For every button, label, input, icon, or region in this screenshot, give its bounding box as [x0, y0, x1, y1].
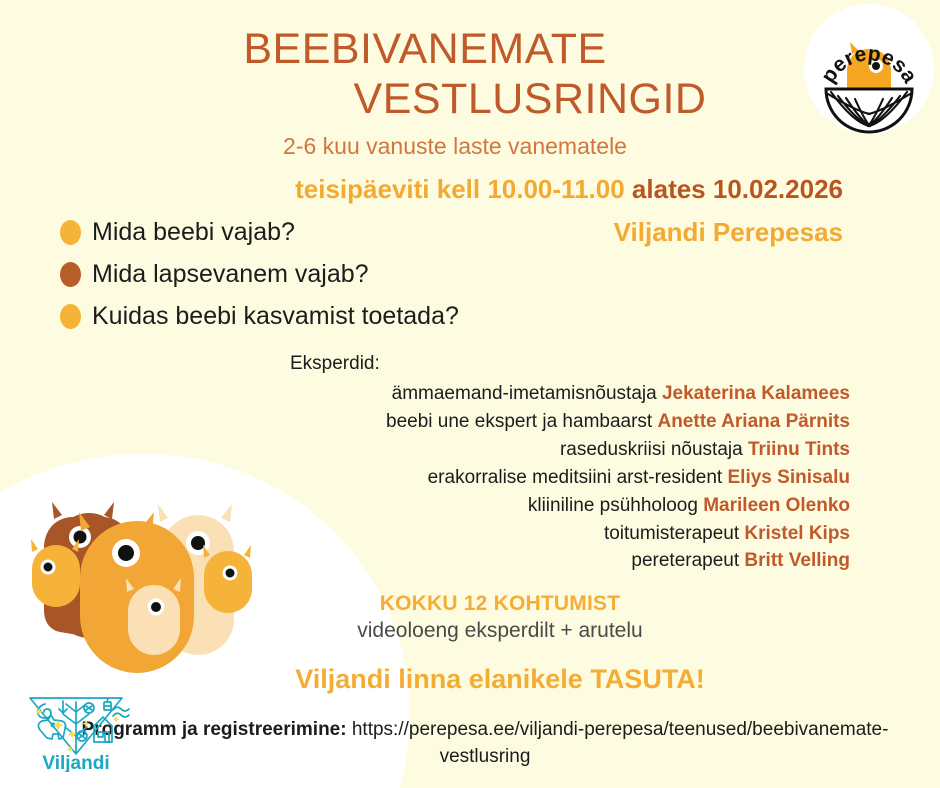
- expert-role: ämmaemand-imetamisnõustaja: [392, 383, 657, 404]
- experts-heading: Eksperdid:: [290, 350, 850, 378]
- bullet-dot-icon: [60, 220, 81, 245]
- title-line-1: BEEBIVANEMATE: [0, 24, 940, 74]
- expert-row: toitumisterapeut Kristel Kips: [290, 520, 850, 548]
- list-item: Kuidas beebi kasvamist toetada?: [60, 302, 459, 331]
- expert-name: Kristel Kips: [744, 523, 850, 544]
- expert-role: beebi une ekspert ja hambaarst: [386, 411, 652, 432]
- meetings-section: KOKKU 12 KOHTUMIST videoloeng eksperdilt…: [0, 592, 940, 643]
- bullet-dot-icon: [60, 262, 81, 287]
- experts-section: Eksperdid: ämmaemand-imetamisnõustaja Je…: [290, 350, 850, 575]
- title-subtitle: 2-6 kuu vanuste laste vanematele: [0, 133, 940, 160]
- expert-name: Triinu Tints: [748, 439, 850, 460]
- perepesa-logo: perepesa perepesa: [804, 4, 934, 134]
- poster-canvas: perepesa perepesa BEEBIVANEMATE VESTLUSR…: [0, 0, 940, 788]
- meetings-format: videoloeng eksperdilt + arutelu: [60, 619, 940, 643]
- expert-role: erakorralise meditsiini arst-resident: [428, 467, 723, 488]
- list-item-label: Mida lapsevanem vajab?: [92, 260, 369, 289]
- list-item: Mida lapsevanem vajab?: [60, 260, 459, 289]
- bird-family-illustration: [18, 485, 288, 685]
- viljandi-wordmark: Viljandi: [42, 753, 109, 772]
- schedule-line: teisipäeviti kell 10.00-11.00 alates 10.…: [295, 173, 843, 206]
- expert-name: Jekaterina Kalamees: [662, 383, 850, 404]
- expert-role: raseduskriisi nõustaja: [560, 439, 743, 460]
- topic-list: Mida beebi vajab? Mida lapsevanem vajab?…: [60, 218, 459, 344]
- title-line-2: VESTLUSRINGID: [0, 74, 940, 124]
- expert-role: toitumisterapeut: [604, 523, 739, 544]
- schedule-time: teisipäeviti kell 10.00-11.00: [295, 174, 625, 204]
- expert-row: erakorralise meditsiini arst-resident El…: [290, 464, 850, 492]
- expert-name: Eliys Sinisalu: [728, 467, 851, 488]
- list-item-label: Kuidas beebi kasvamist toetada?: [92, 302, 459, 331]
- bullet-dot-icon: [60, 304, 81, 329]
- list-item-label: Mida beebi vajab?: [92, 218, 295, 247]
- expert-row: pereterapeut Britt Velling: [290, 547, 850, 575]
- expert-row: raseduskriisi nõustaja Triinu Tints: [290, 436, 850, 464]
- registration-url[interactable]: https://perepesa.ee/viljandi-perepesa/te…: [352, 719, 889, 767]
- expert-role: pereterapeut: [631, 550, 739, 571]
- viljandi-city-logo: Viljandi: [20, 690, 132, 772]
- expert-name: Anette Ariana Pärnits: [657, 411, 850, 432]
- expert-name: Marileen Olenko: [703, 495, 850, 516]
- expert-row: ämmaemand-imetamisnõustaja Jekaterina Ka…: [290, 380, 850, 408]
- meetings-count: KOKKU 12 KOHTUMIST: [60, 592, 940, 616]
- registration-block: Programm ja registreerimine: https://per…: [0, 717, 940, 771]
- page-title: BEEBIVANEMATE VESTLUSRINGID 2-6 kuu vanu…: [0, 24, 940, 160]
- expert-row: beebi une ekspert ja hambaarst Anette Ar…: [290, 408, 850, 436]
- expert-name: Britt Velling: [744, 550, 850, 571]
- expert-row: kliiniline psühholoog Marileen Olenko: [290, 492, 850, 520]
- expert-role: kliiniline psühholoog: [528, 495, 698, 516]
- list-item: Mida beebi vajab?: [60, 218, 459, 247]
- free-notice: Viljandi linna elanikele TASUTA!: [0, 664, 940, 695]
- schedule-date: alates 10.02.2026: [632, 174, 843, 204]
